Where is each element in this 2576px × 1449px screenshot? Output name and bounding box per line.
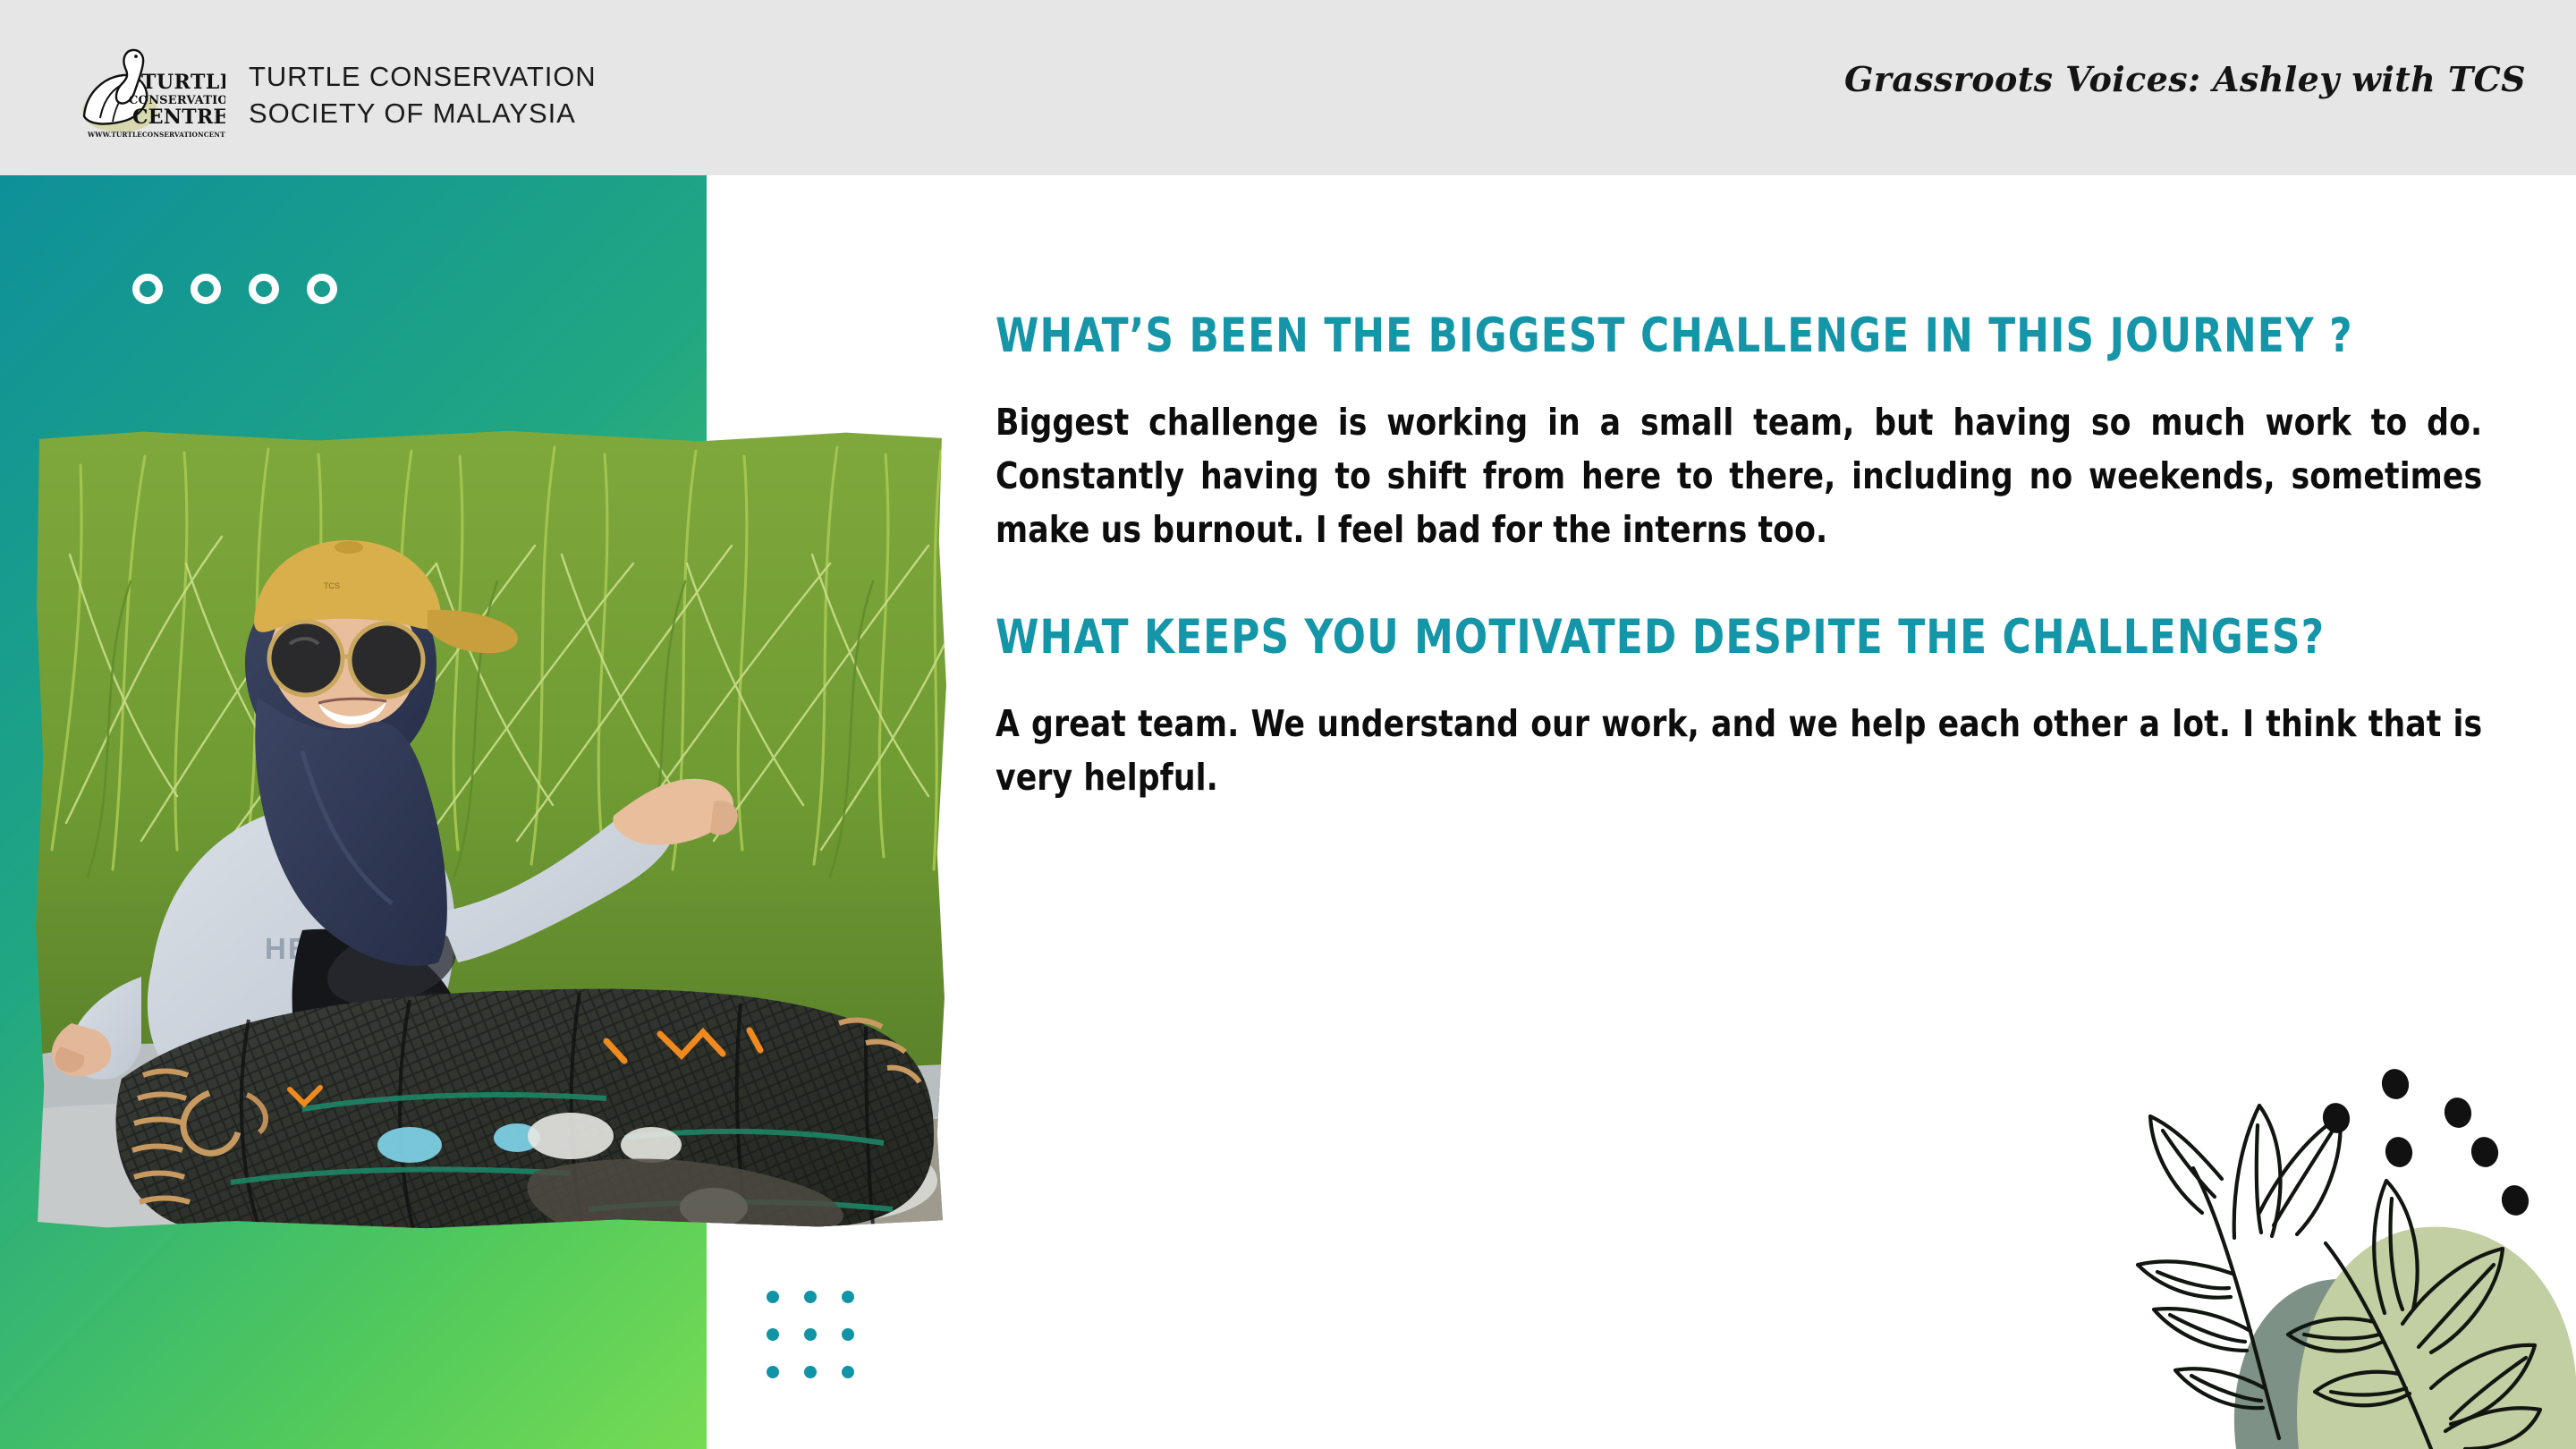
slide-canvas: TURTLE CONSERVATION CENTRE WWW.TURTLECON…: [0, 0, 2576, 1449]
botanical-decoration: [2075, 1020, 2576, 1449]
svg-text:TCS: TCS: [324, 581, 340, 590]
circle-outline-icon: [307, 274, 337, 304]
brand-lockup: TURTLE CONSERVATION CENTRE WWW.TURTLECON…: [73, 47, 597, 143]
dot-icon: [804, 1291, 817, 1303]
dot-icon: [842, 1291, 854, 1303]
svg-text:TURTLE: TURTLE: [141, 71, 225, 94]
dot-icon: [767, 1328, 779, 1341]
circle-outline-icon: [191, 274, 221, 304]
question-heading-1: WHAT’S BEEN THE BIGGEST CHALLENGE IN THI…: [996, 309, 2481, 365]
feature-photo: HELP TCS: [34, 429, 946, 1230]
answer-body-2: A great team. We understand our work, an…: [996, 697, 2482, 805]
circle-outline-icon: [249, 274, 279, 304]
dot-grid-decoration: [767, 1291, 854, 1378]
organization-name: TURTLE CONSERVATION SOCIETY OF MALAYSIA: [249, 58, 597, 131]
answer-body-1: Biggest challenge is working in a small …: [996, 395, 2482, 557]
slide-tagline: Grassroots Voices: Ashley with TCS: [1844, 59, 2526, 99]
svg-text:CENTRE: CENTRE: [132, 106, 225, 129]
ring-decoration-group: [132, 274, 337, 304]
dot-icon: [804, 1366, 817, 1378]
svg-text:WWW.TURTLECONSERVATIONCENTRE.O: WWW.TURTLECONSERVATIONCENTRE.ORG: [87, 131, 225, 139]
question-heading-2: WHAT KEEPS YOU MOTIVATED DESPITE THE CHA…: [996, 610, 2481, 666]
qa-content: WHAT’S BEEN THE BIGGEST CHALLENGE IN THI…: [996, 309, 2482, 804]
circle-outline-icon: [132, 274, 163, 304]
dot-icon: [842, 1328, 854, 1341]
header-bar: TURTLE CONSERVATION CENTRE WWW.TURTLECON…: [0, 0, 2576, 175]
dot-icon: [804, 1328, 817, 1341]
turtle-conservation-centre-logo-icon: TURTLE CONSERVATION CENTRE WWW.TURTLECON…: [73, 47, 225, 143]
dot-icon: [767, 1366, 779, 1378]
dot-icon: [842, 1366, 854, 1378]
dot-icon: [767, 1291, 779, 1303]
